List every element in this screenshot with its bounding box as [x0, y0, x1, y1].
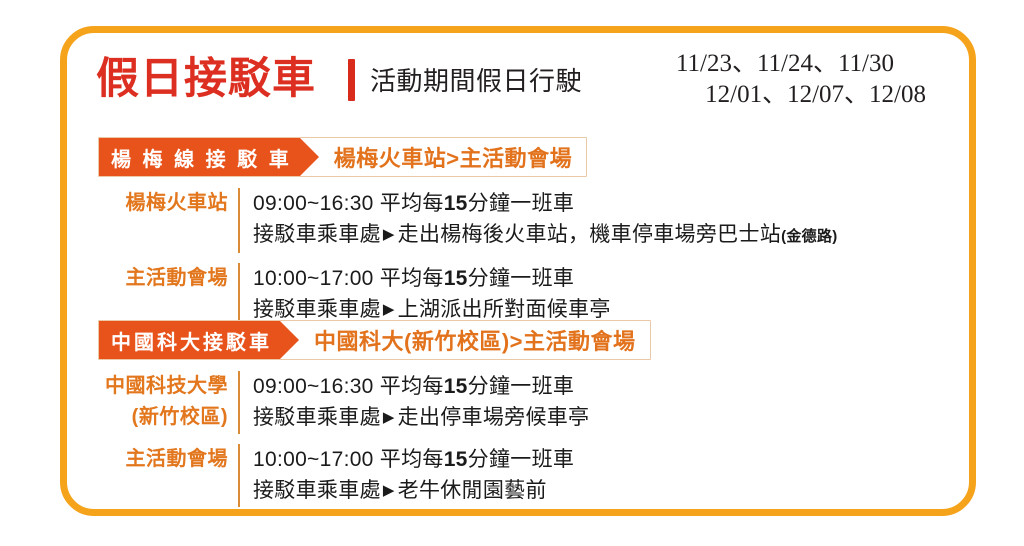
stop-block-main-venue-2: 主活動會場 10:00~17:00 平均每15分鐘一班車 接駁車乘車處▶老牛休閒…	[98, 444, 651, 507]
stop-divider	[238, 444, 240, 507]
stop-block-cute-campus: 中國科技大學 (新竹校區) 09:00~16:30 平均每15分鐘一班車 接駁車…	[98, 371, 651, 434]
schedule-time-suffix: 分鐘一班車	[468, 192, 575, 215]
route-section-yangmei: 楊 梅 線 接 駁 車 楊梅火車站>主活動會場 楊梅火車站 09:00~16:3…	[98, 137, 838, 326]
stop-schedule-line: 10:00~17:00 平均每15分鐘一班車	[253, 444, 651, 475]
schedule-time-prefix: 09:00~16:30 平均每	[253, 192, 444, 215]
schedule-interval-minutes: 15	[444, 375, 468, 398]
schedule-time-prefix: 09:00~16:30 平均每	[253, 375, 444, 398]
stop-name-line-1: 主活動會場	[98, 263, 228, 294]
triangle-right-icon: ▶	[381, 409, 398, 426]
stop-name-cute-campus: 中國科技大學 (新竹校區)	[98, 371, 238, 433]
schedule-time-suffix: 分鐘一班車	[468, 267, 575, 290]
stop-block-yangmei-station: 楊梅火車站 09:00~16:30 平均每15分鐘一班車 接駁車乘車處▶走出楊梅…	[98, 188, 838, 253]
stop-schedule-line: 09:00~16:30 平均每15分鐘一班車	[253, 188, 838, 219]
schedule-interval-minutes: 15	[444, 448, 468, 471]
stop-boarding-line: 接駁車乘車處▶走出停車場旁候車亭	[253, 402, 651, 434]
stop-details: 10:00~17:00 平均每15分鐘一班車 接駁車乘車處▶老牛休閒園藝前	[253, 444, 651, 507]
schedule-time-prefix: 10:00~17:00 平均每	[253, 267, 444, 290]
service-dates-line-1: 11/23、11/24、11/30	[596, 48, 926, 79]
stop-divider	[238, 263, 240, 326]
route-section-cute: 中國科大接駁車 中國科大(新竹校區)>主活動會場 中國科技大學 (新竹校區) 0…	[98, 320, 651, 507]
route-header-cute: 中國科大接駁車 中國科大(新竹校區)>主活動會場	[98, 320, 651, 360]
stop-name-main-venue: 主活動會場	[98, 444, 238, 475]
route-badge-cute: 中國科大接駁車	[99, 321, 280, 359]
shuttle-bus-info-poster: 假日接駁車 活動期間假日行駛 11/23、11/24、11/30 12/01、1…	[0, 0, 1024, 546]
triangle-right-icon: ▶	[381, 226, 398, 243]
stop-name-line-1: 楊梅火車站	[98, 188, 228, 219]
triangle-right-icon: ▶	[381, 301, 398, 318]
stop-schedule-line: 09:00~16:30 平均每15分鐘一班車	[253, 371, 651, 402]
stop-block-main-venue-1: 主活動會場 10:00~17:00 平均每15分鐘一班車 接駁車乘車處▶上湖派出…	[98, 263, 838, 326]
boarding-label: 接駁車乘車處	[253, 223, 381, 246]
stop-schedule-line: 10:00~17:00 平均每15分鐘一班車	[253, 263, 838, 294]
route-badge-label: 中國科大接駁車	[111, 326, 272, 355]
triangle-right-icon: ▶	[381, 482, 398, 499]
stop-name-yangmei-station: 楊梅火車站	[98, 188, 238, 219]
chevron-right-icon	[300, 138, 319, 176]
service-dates: 11/23、11/24、11/30 12/01、12/07、12/08	[596, 48, 926, 110]
schedule-time-prefix: 10:00~17:00 平均每	[253, 448, 444, 471]
boarding-label: 接駁車乘車處	[253, 479, 381, 502]
stop-name-main-venue: 主活動會場	[98, 263, 238, 294]
schedule-time-suffix: 分鐘一班車	[468, 375, 575, 398]
stop-details: 09:00~16:30 平均每15分鐘一班車 接駁車乘車處▶走出楊梅後火車站，機…	[253, 188, 838, 253]
boarding-place: 走出停車場旁候車亭	[398, 406, 590, 429]
boarding-label: 接駁車乘車處	[253, 298, 381, 321]
schedule-interval-minutes: 15	[444, 192, 468, 215]
stop-boarding-line: 接駁車乘車處▶走出楊梅後火車站，機車停車場旁巴士站(金德路)	[253, 219, 838, 253]
page-subtitle: 活動期間假日行駛	[370, 62, 582, 100]
route-badge-yangmei: 楊 梅 線 接 駁 車	[99, 138, 300, 176]
stop-name-line-1: 主活動會場	[98, 444, 228, 475]
boarding-label: 接駁車乘車處	[253, 406, 381, 429]
service-dates-line-2: 12/01、12/07、12/08	[596, 79, 926, 110]
poster-header: 假日接駁車 活動期間假日行駛 11/23、11/24、11/30 12/01、1…	[96, 52, 926, 118]
stop-divider	[238, 371, 240, 434]
route-path-label-yangmei: 楊梅火車站>主活動會場	[300, 138, 586, 176]
chevron-right-icon	[280, 321, 299, 359]
stop-divider	[238, 188, 240, 253]
stop-details: 10:00~17:00 平均每15分鐘一班車 接駁車乘車處▶上湖派出所對面候車亭	[253, 263, 838, 326]
boarding-place: 老牛休閒園藝前	[398, 479, 547, 502]
stop-name-line-1: 中國科技大學	[98, 371, 228, 402]
route-badge-label: 楊 梅 線 接 駁 車	[111, 143, 292, 172]
route-path-label-cute: 中國科大(新竹校區)>主活動會場	[280, 321, 650, 359]
boarding-place: 上湖派出所對面候車亭	[398, 298, 611, 321]
stop-boarding-line: 接駁車乘車處▶老牛休閒園藝前	[253, 475, 651, 507]
boarding-place: 走出楊梅後火車站，機車停車場旁巴士站	[398, 223, 781, 246]
schedule-interval-minutes: 15	[444, 267, 468, 290]
page-title: 假日接駁車	[96, 52, 316, 106]
route-header-yangmei: 楊 梅 線 接 駁 車 楊梅火車站>主活動會場	[98, 137, 587, 177]
schedule-time-suffix: 分鐘一班車	[468, 448, 575, 471]
boarding-place-note: (金德路)	[781, 228, 838, 245]
stop-name-line-2: (新竹校區)	[98, 402, 228, 433]
stop-details: 09:00~16:30 平均每15分鐘一班車 接駁車乘車處▶走出停車場旁候車亭	[253, 371, 651, 434]
title-divider-bar	[348, 59, 355, 101]
